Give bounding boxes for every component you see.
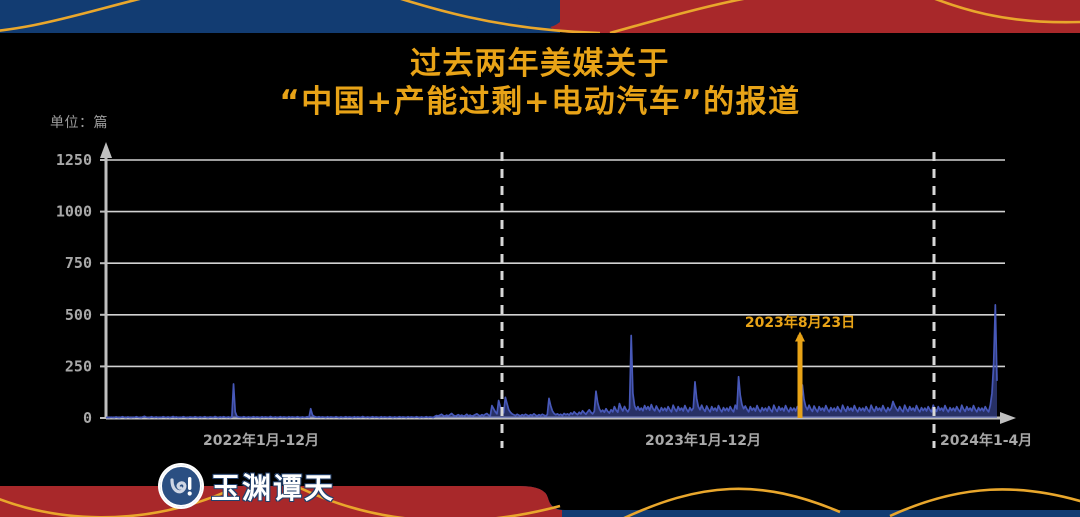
y-axis-tick-labels: 025050075010001250 [56, 151, 92, 427]
x-period-label: 2022年1月-12月 [203, 432, 319, 449]
y-tick-label: 750 [65, 254, 92, 272]
period-dividers [502, 152, 934, 448]
y-tick-label: 250 [65, 357, 92, 375]
x-period-label: 2023年1月-12月 [645, 432, 761, 449]
y-tick-label: 1000 [56, 203, 92, 221]
y-tick-label: 0 [83, 409, 92, 427]
chart-gridlines [100, 160, 1005, 418]
x-period-label: 2024年1-4月 [940, 432, 1032, 449]
watermark: 玉渊谭天 [160, 462, 335, 510]
watermark-text: 玉渊谭天 [211, 465, 335, 507]
chart: 025050075010001250 2023年8月23日 2022年1月-12… [0, 0, 1080, 470]
circle-bird-logo-icon [160, 465, 202, 507]
y-axis [100, 142, 112, 418]
data-series-line [106, 305, 997, 418]
y-tick-label: 500 [65, 306, 92, 324]
y-tick-label: 1250 [56, 151, 92, 169]
annotation-label: 2023年8月23日 [745, 314, 855, 331]
infographic-canvas: 过去两年美媒关于 “中国+产能过剩+电动汽车”的报道 单位：篇 02505007… [0, 0, 1080, 517]
x-axis-period-labels: 2022年1月-12月2023年1月-12月2024年1-4月 [203, 432, 1032, 449]
